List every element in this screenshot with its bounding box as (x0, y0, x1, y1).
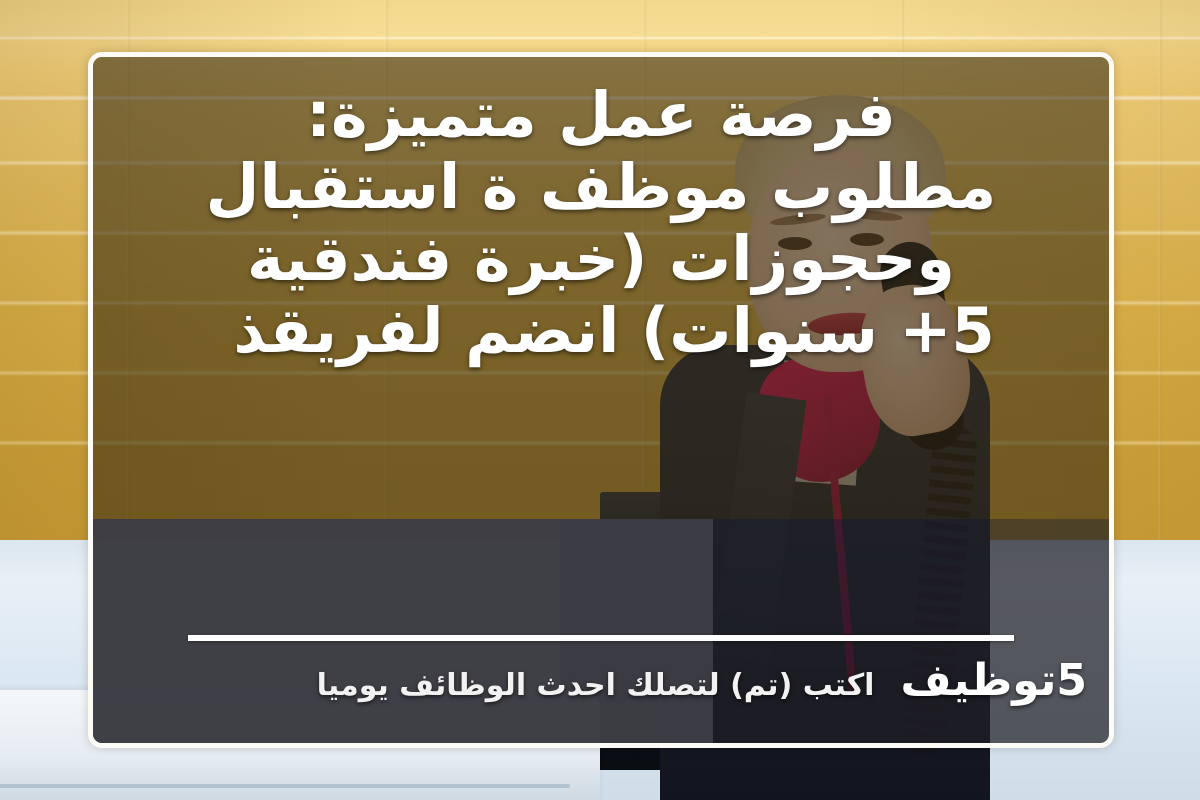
poster-content: فرصة عمل متميزة: مطلوب موظف ة استقبال وح… (93, 57, 1109, 743)
horizontal-divider (188, 635, 1014, 641)
headline-line-1: فرصة عمل متميزة: (123, 79, 1079, 151)
headline: فرصة عمل متميزة: مطلوب موظف ة استقبال وح… (123, 79, 1079, 367)
tagline-text: اكتب (تم) لتصلك احدث الوظائف يوميا (317, 668, 875, 703)
headline-line-4: 5+ سنوات) انضم لفريقذ (123, 295, 1105, 367)
headline-line-3: وحجوزات (خبرة فندقية (123, 223, 1079, 295)
brand-label: 5توظيف (900, 655, 1087, 706)
footer-bar: 5توظيف اكتب (تم) لتصلك احدث الوظائف يومي… (93, 655, 1109, 706)
headline-line-2: مطلوب موظف ة استقبال (123, 151, 1079, 223)
poster-frame: فرصة عمل متميزة: مطلوب موظف ة استقبال وح… (88, 52, 1114, 748)
